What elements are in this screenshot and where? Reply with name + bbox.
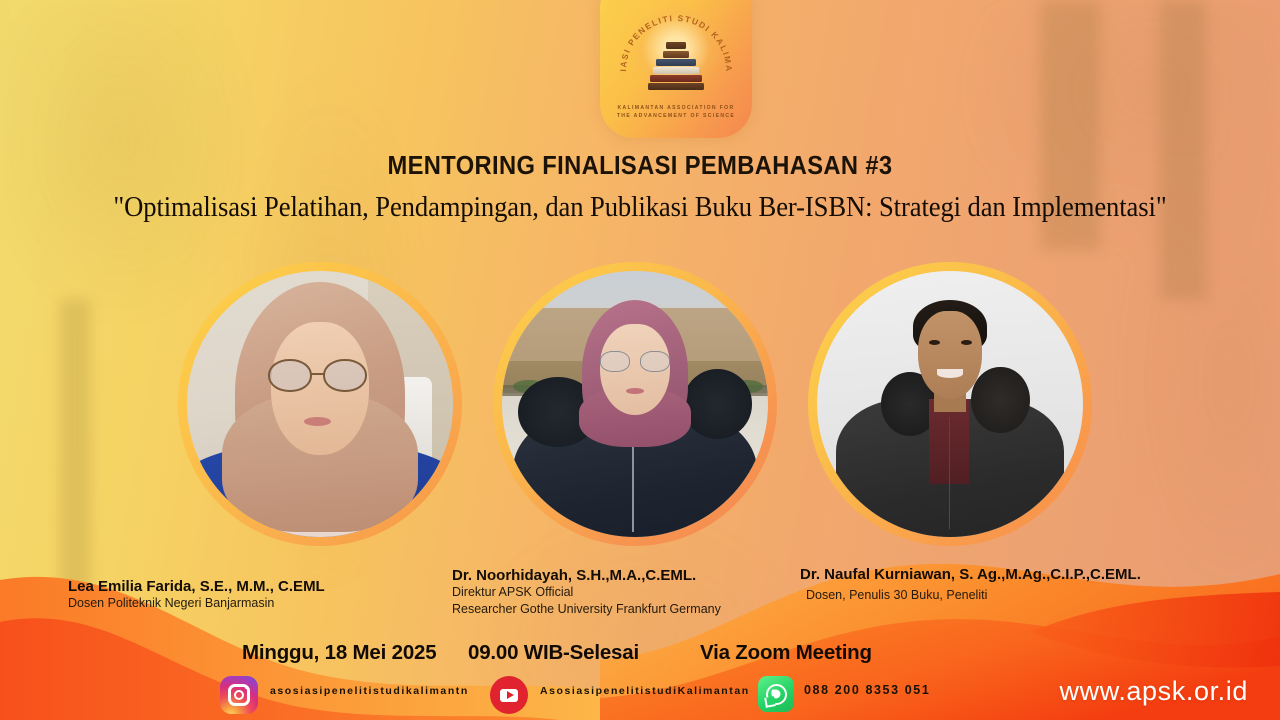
speaker-caption-2: Dr. Noorhidayah, S.H.,M.A.,C.EML. Direkt… (452, 567, 721, 618)
page-subtitle: "Optimalisasi Pelatihan, Pendampingan, d… (32, 192, 1248, 224)
speaker-role: Dosen Politeknik Negeri Banjarmasin (68, 595, 325, 612)
stacked-books-icon (648, 41, 704, 90)
logo-tagline-line1: KALIMANTAN ASSOCIATION FOR (617, 105, 735, 112)
speaker-name: Lea Emilia Farida, S.E., M.M., C.EML (68, 578, 325, 595)
youtube-icon[interactable] (490, 676, 528, 714)
background-streak (60, 300, 90, 600)
page-title: MENTORING FINALISASI PEMBAHASAN #3 (45, 152, 1235, 181)
logo-tagline-line2: THE ADVANCEMENT OF SCIENCE (617, 113, 735, 120)
event-time: 09.00 WIB-Selesai (468, 641, 639, 665)
speaker-name: Dr. Noorhidayah, S.H.,M.A.,C.EML. (452, 567, 721, 584)
speaker-caption-1: Lea Emilia Farida, S.E., M.M., C.EML Dos… (68, 578, 325, 612)
speaker-role: Direktur APSK Official (452, 584, 721, 601)
instagram-handle: asosiasipenelitistudikalimantn (270, 685, 469, 697)
logo-tagline: KALIMANTAN ASSOCIATION FOR THE ADVANCEME… (617, 105, 735, 120)
organization-logo-badge: ASOSIASI PENELITI STUDI KALIMANTAN KALIM… (600, 0, 752, 138)
website-url[interactable]: www.apsk.or.id (1060, 676, 1248, 707)
speaker-role-secondary: Researcher Gothe University Frankfurt Ge… (452, 601, 721, 618)
instagram-icon[interactable] (220, 676, 258, 714)
event-platform: Via Zoom Meeting (700, 641, 872, 665)
speaker-caption-3: Dr. Naufal Kurniawan, S. Ag.,M.Ag.,C.I.P… (800, 566, 1141, 604)
speaker-name: Dr. Naufal Kurniawan, S. Ag.,M.Ag.,C.I.P… (800, 566, 1141, 583)
speaker-photo-1 (178, 262, 462, 546)
whatsapp-number: 088 200 8353 051 (804, 683, 930, 697)
whatsapp-icon[interactable] (758, 676, 794, 712)
logo-emblem: ASOSIASI PENELITI STUDI KALIMANTAN (614, 0, 738, 103)
speaker-photo-3 (808, 262, 1092, 546)
speaker-role: Dosen, Penulis 30 Buku, Peneliti (800, 583, 1141, 604)
event-date: Minggu, 18 Mei 2025 (242, 641, 436, 665)
speaker-photo-2 (493, 262, 777, 546)
background-streak (1160, 0, 1206, 300)
youtube-handle: AsosiasipenelitistudiKalimantan (540, 685, 750, 697)
